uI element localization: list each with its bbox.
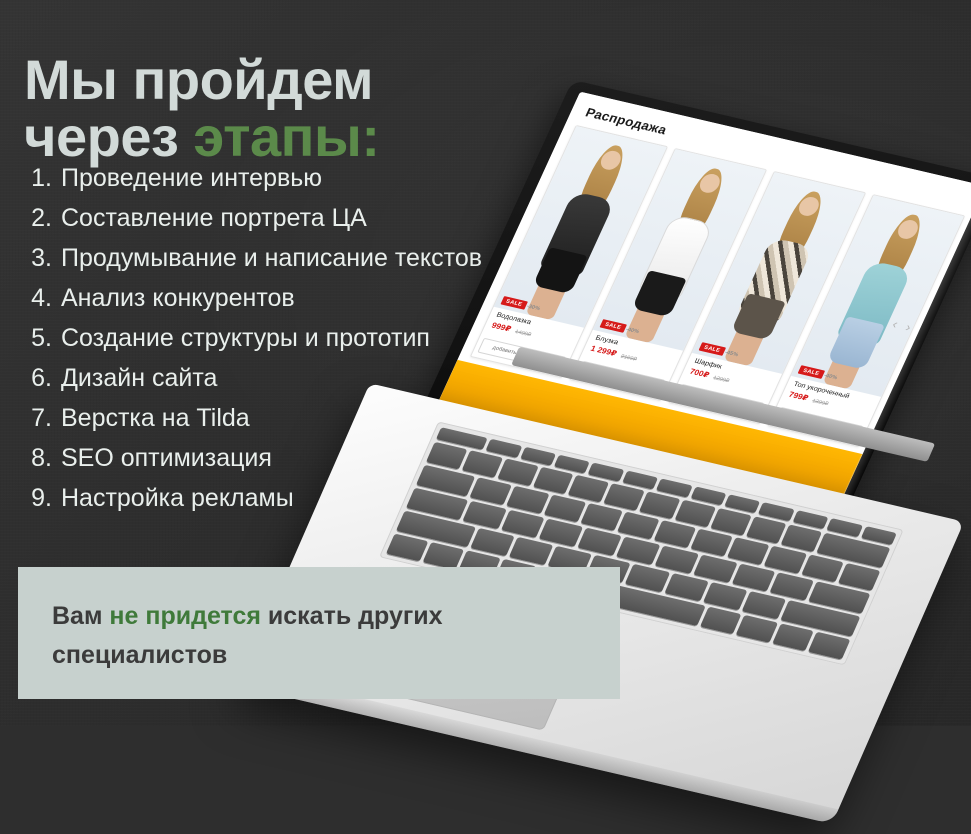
step-label: Продумывание и написание текстов: [61, 246, 482, 271]
steps-list: 1.Проведение интервью 2.Составление порт…: [18, 166, 482, 526]
product-price: 700₽: [688, 367, 711, 380]
step-number: 3.: [18, 246, 52, 271]
list-item: 4.Анализ конкурентов: [18, 286, 482, 311]
key[interactable]: [710, 508, 751, 536]
step-label: Создание структуры и прототип: [61, 326, 430, 351]
step-number: 6.: [18, 366, 52, 391]
promo-text: Вам не придется искать других специалист…: [52, 597, 586, 675]
list-item: 3.Продумывание и написание текстов: [18, 246, 482, 271]
arrow-key[interactable]: [772, 623, 814, 651]
product-price: 999₽: [490, 321, 513, 334]
key[interactable]: [675, 500, 716, 528]
headline-line-1: Мы пройдем: [24, 48, 373, 111]
step-number: 5.: [18, 326, 52, 351]
ctrl-key[interactable]: [386, 533, 428, 561]
product-old-price: 2199₽: [620, 354, 638, 363]
step-number: 7.: [18, 406, 52, 431]
key[interactable]: [604, 483, 645, 511]
step-number: 2.: [18, 206, 52, 231]
list-item: 5.Создание структуры и прототип: [18, 326, 482, 351]
step-label: Проведение интервью: [61, 166, 322, 191]
fn-key[interactable]: [422, 542, 464, 570]
list-item: 1.Проведение интервью: [18, 166, 482, 191]
list-item: 9.Настройка рекламы: [18, 486, 482, 511]
product-price: 1 299₽: [589, 344, 618, 358]
alt-key[interactable]: [700, 607, 742, 635]
key[interactable]: [532, 467, 573, 495]
product-old-price: 1399₽: [811, 398, 829, 407]
step-number: 4.: [18, 286, 52, 311]
promo-callout: Вам не придется искать других специалист…: [18, 567, 620, 699]
product-price: 799₽: [787, 390, 810, 403]
step-label: Анализ конкурентов: [61, 286, 295, 311]
key[interactable]: [497, 458, 538, 486]
key[interactable]: [746, 516, 787, 544]
step-number: 9.: [18, 486, 52, 511]
list-item: 2.Составление портрета ЦА: [18, 206, 482, 231]
list-item: 8.SEO оптимизация: [18, 446, 482, 471]
key[interactable]: [568, 475, 609, 503]
step-label: Составление портрета ЦА: [61, 206, 367, 231]
step-label: Дизайн сайта: [61, 366, 217, 391]
step-label: Настройка рекламы: [61, 486, 294, 511]
promo-accent: не придется: [109, 602, 261, 630]
promo-part-1: Вам: [52, 602, 109, 630]
product-old-price: 1299₽: [712, 375, 730, 384]
step-label: Верстка на Tilda: [61, 406, 250, 431]
arrow-key[interactable]: [808, 632, 850, 660]
arrow-key[interactable]: [736, 615, 778, 643]
product-old-price: 1499₽: [514, 329, 532, 338]
key[interactable]: [781, 524, 822, 552]
key[interactable]: [639, 491, 680, 519]
headline-line-2-plain: через: [24, 105, 193, 168]
list-item: 7.Верстка на Tilda: [18, 406, 482, 431]
list-item: 6.Дизайн сайта: [18, 366, 482, 391]
step-label: SEO оптимизация: [61, 446, 272, 471]
step-number: 1.: [18, 166, 52, 191]
page-title: Мы пройдем через этапы:: [24, 51, 379, 165]
promo-line-2: специалистов: [52, 641, 227, 669]
step-number: 8.: [18, 446, 52, 471]
promo-part-2: искать других: [261, 602, 443, 630]
headline-line-2-accent: этапы:: [193, 105, 379, 168]
